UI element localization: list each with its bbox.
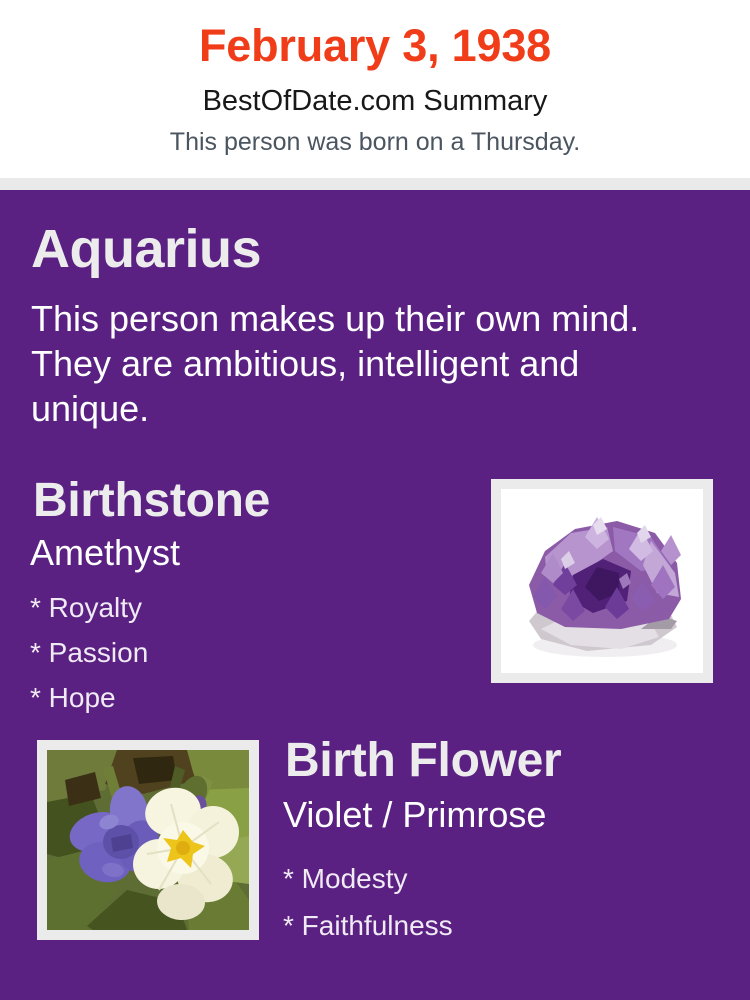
list-item: * Passion <box>30 630 460 675</box>
list-item: * Hope <box>30 675 460 720</box>
date-summary-card: February 3, 1938 BestOfDate.com Summary … <box>0 0 750 1000</box>
list-item: * Modesty <box>283 855 723 902</box>
birthstone-name: Amethyst <box>30 535 180 571</box>
site-name-label: BestOfDate.com Summary <box>0 87 750 116</box>
birth-flower-heading: Birth Flower <box>285 737 561 785</box>
header-divider <box>0 178 750 190</box>
birth-flower-photo-frame <box>37 740 259 940</box>
birth-flower-name: Violet / Primrose <box>283 797 546 833</box>
list-item: * Faithfulness <box>283 902 723 949</box>
birth-flower-trait-list: * Modesty * Faithfulness <box>283 855 723 949</box>
amethyst-crystal-image <box>501 489 703 673</box>
birthstone-photo-frame <box>491 479 713 683</box>
zodiac-sign-heading: Aquarius <box>31 222 261 276</box>
violet-primrose-image <box>47 750 249 930</box>
header: February 3, 1938 BestOfDate.com Summary … <box>0 0 750 178</box>
zodiac-description-text: This person makes up their own mind. The… <box>31 296 691 431</box>
list-item: * Royalty <box>30 585 460 630</box>
page-title: February 3, 1938 <box>0 23 750 68</box>
birthstone-heading: Birthstone <box>33 477 270 525</box>
birthstone-trait-list: * Royalty * Passion * Hope <box>30 585 460 720</box>
birth-day-note: This person was born on a Thursday. <box>0 130 750 155</box>
